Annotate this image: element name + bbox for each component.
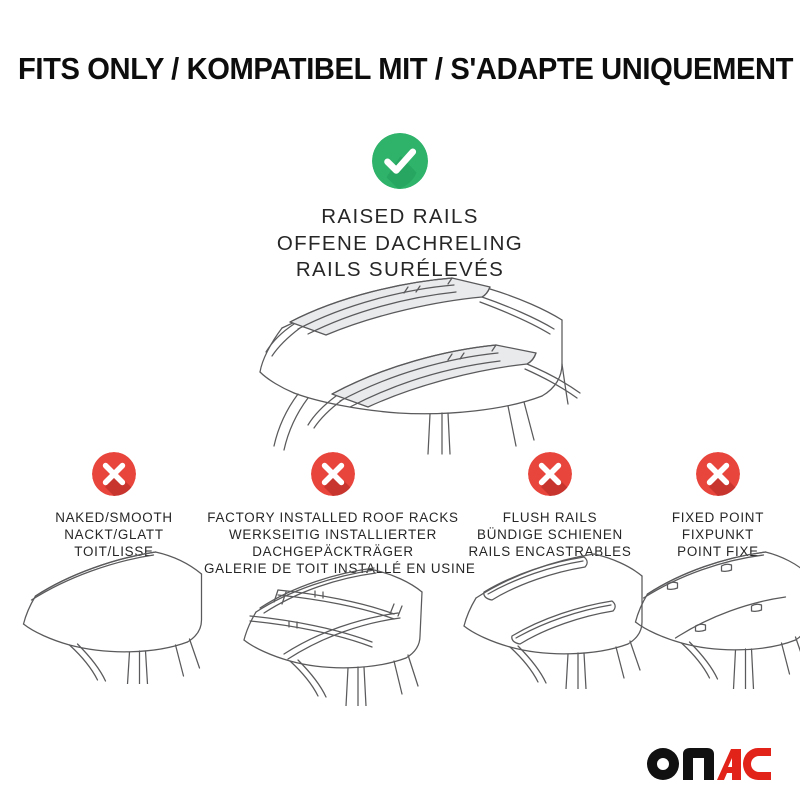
excluded-item-factory-racks: FACTORY INSTALLED ROOF RACKS WERKSEITIG … — [204, 452, 462, 578]
compatible-labels: RAISED RAILS OFFENE DACHRELING RAILS SUR… — [0, 204, 800, 284]
not-compatible-section: NAKED/SMOOTH NACKT/GLATT TOIT/LISSE — [0, 452, 800, 712]
excluded-label-factory-en: FACTORY INSTALLED ROOF RACKS — [204, 510, 462, 527]
x-circle-icon — [696, 452, 740, 496]
x-circle-icon — [311, 452, 355, 496]
compatible-label-de: OFFENE DACHRELING — [0, 231, 800, 258]
car-roof-with-raised-rails-illustration — [190, 276, 620, 456]
page-title: FITS ONLY / KOMPATIBEL MIT / S'ADAPTE UN… — [18, 52, 782, 87]
x-circle-icon — [92, 452, 136, 496]
car-roof-bare-illustration — [12, 544, 217, 684]
compatible-section: RAISED RAILS OFFENE DACHRELING RAILS SUR… — [0, 133, 800, 284]
check-circle-icon — [372, 133, 428, 189]
excluded-label-factory-de1: WERKSEITIG INSTALLIERTER — [204, 527, 462, 544]
excluded-item-naked: NAKED/SMOOTH NACKT/GLATT TOIT/LISSE — [14, 452, 214, 561]
x-circle-icon — [528, 452, 572, 496]
excluded-label-flush-de: BÜNDIGE SCHIENEN — [450, 527, 650, 544]
car-roof-with-flush-rails-illustration — [450, 544, 650, 689]
excluded-label-naked-de: NACKT/GLATT — [14, 527, 214, 544]
compatible-label-en: RAISED RAILS — [0, 204, 800, 231]
car-roof-with-fixed-points-illustration — [626, 544, 800, 689]
excluded-item-fixed-point: FIXED POINT FIXPUNKT POINT FIXE — [636, 452, 800, 561]
excluded-label-naked-en: NAKED/SMOOTH — [14, 510, 214, 527]
excluded-label-flush-en: FLUSH RAILS — [450, 510, 650, 527]
excluded-label-fixed-de: FIXPUNKT — [636, 527, 800, 544]
excluded-label-fixed-en: FIXED POINT — [636, 510, 800, 527]
excluded-item-flush-rails: FLUSH RAILS BÜNDIGE SCHIENEN RAILS ENCAS… — [450, 452, 650, 561]
car-roof-with-factory-crossbars-illustration — [222, 556, 444, 706]
omac-logo — [645, 746, 773, 782]
